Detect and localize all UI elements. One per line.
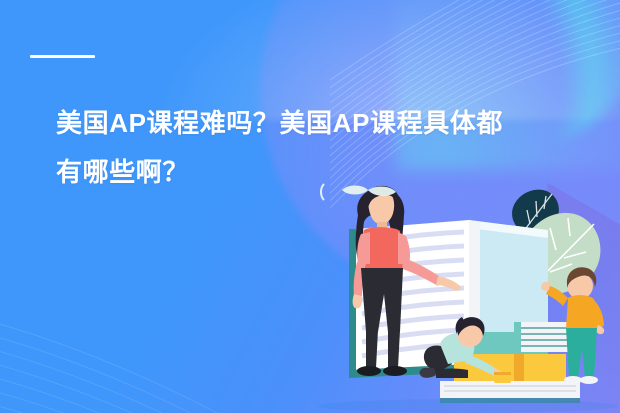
ground-shadow <box>318 399 618 413</box>
banner-root: 美国AP课程难吗？美国AP课程具体都有哪些啊？ <box>0 0 620 413</box>
illustration <box>318 182 620 413</box>
accent-rule <box>30 55 95 58</box>
students-reading-books-illustration <box>318 182 620 413</box>
arc-lines-bottom-left <box>0 233 340 413</box>
